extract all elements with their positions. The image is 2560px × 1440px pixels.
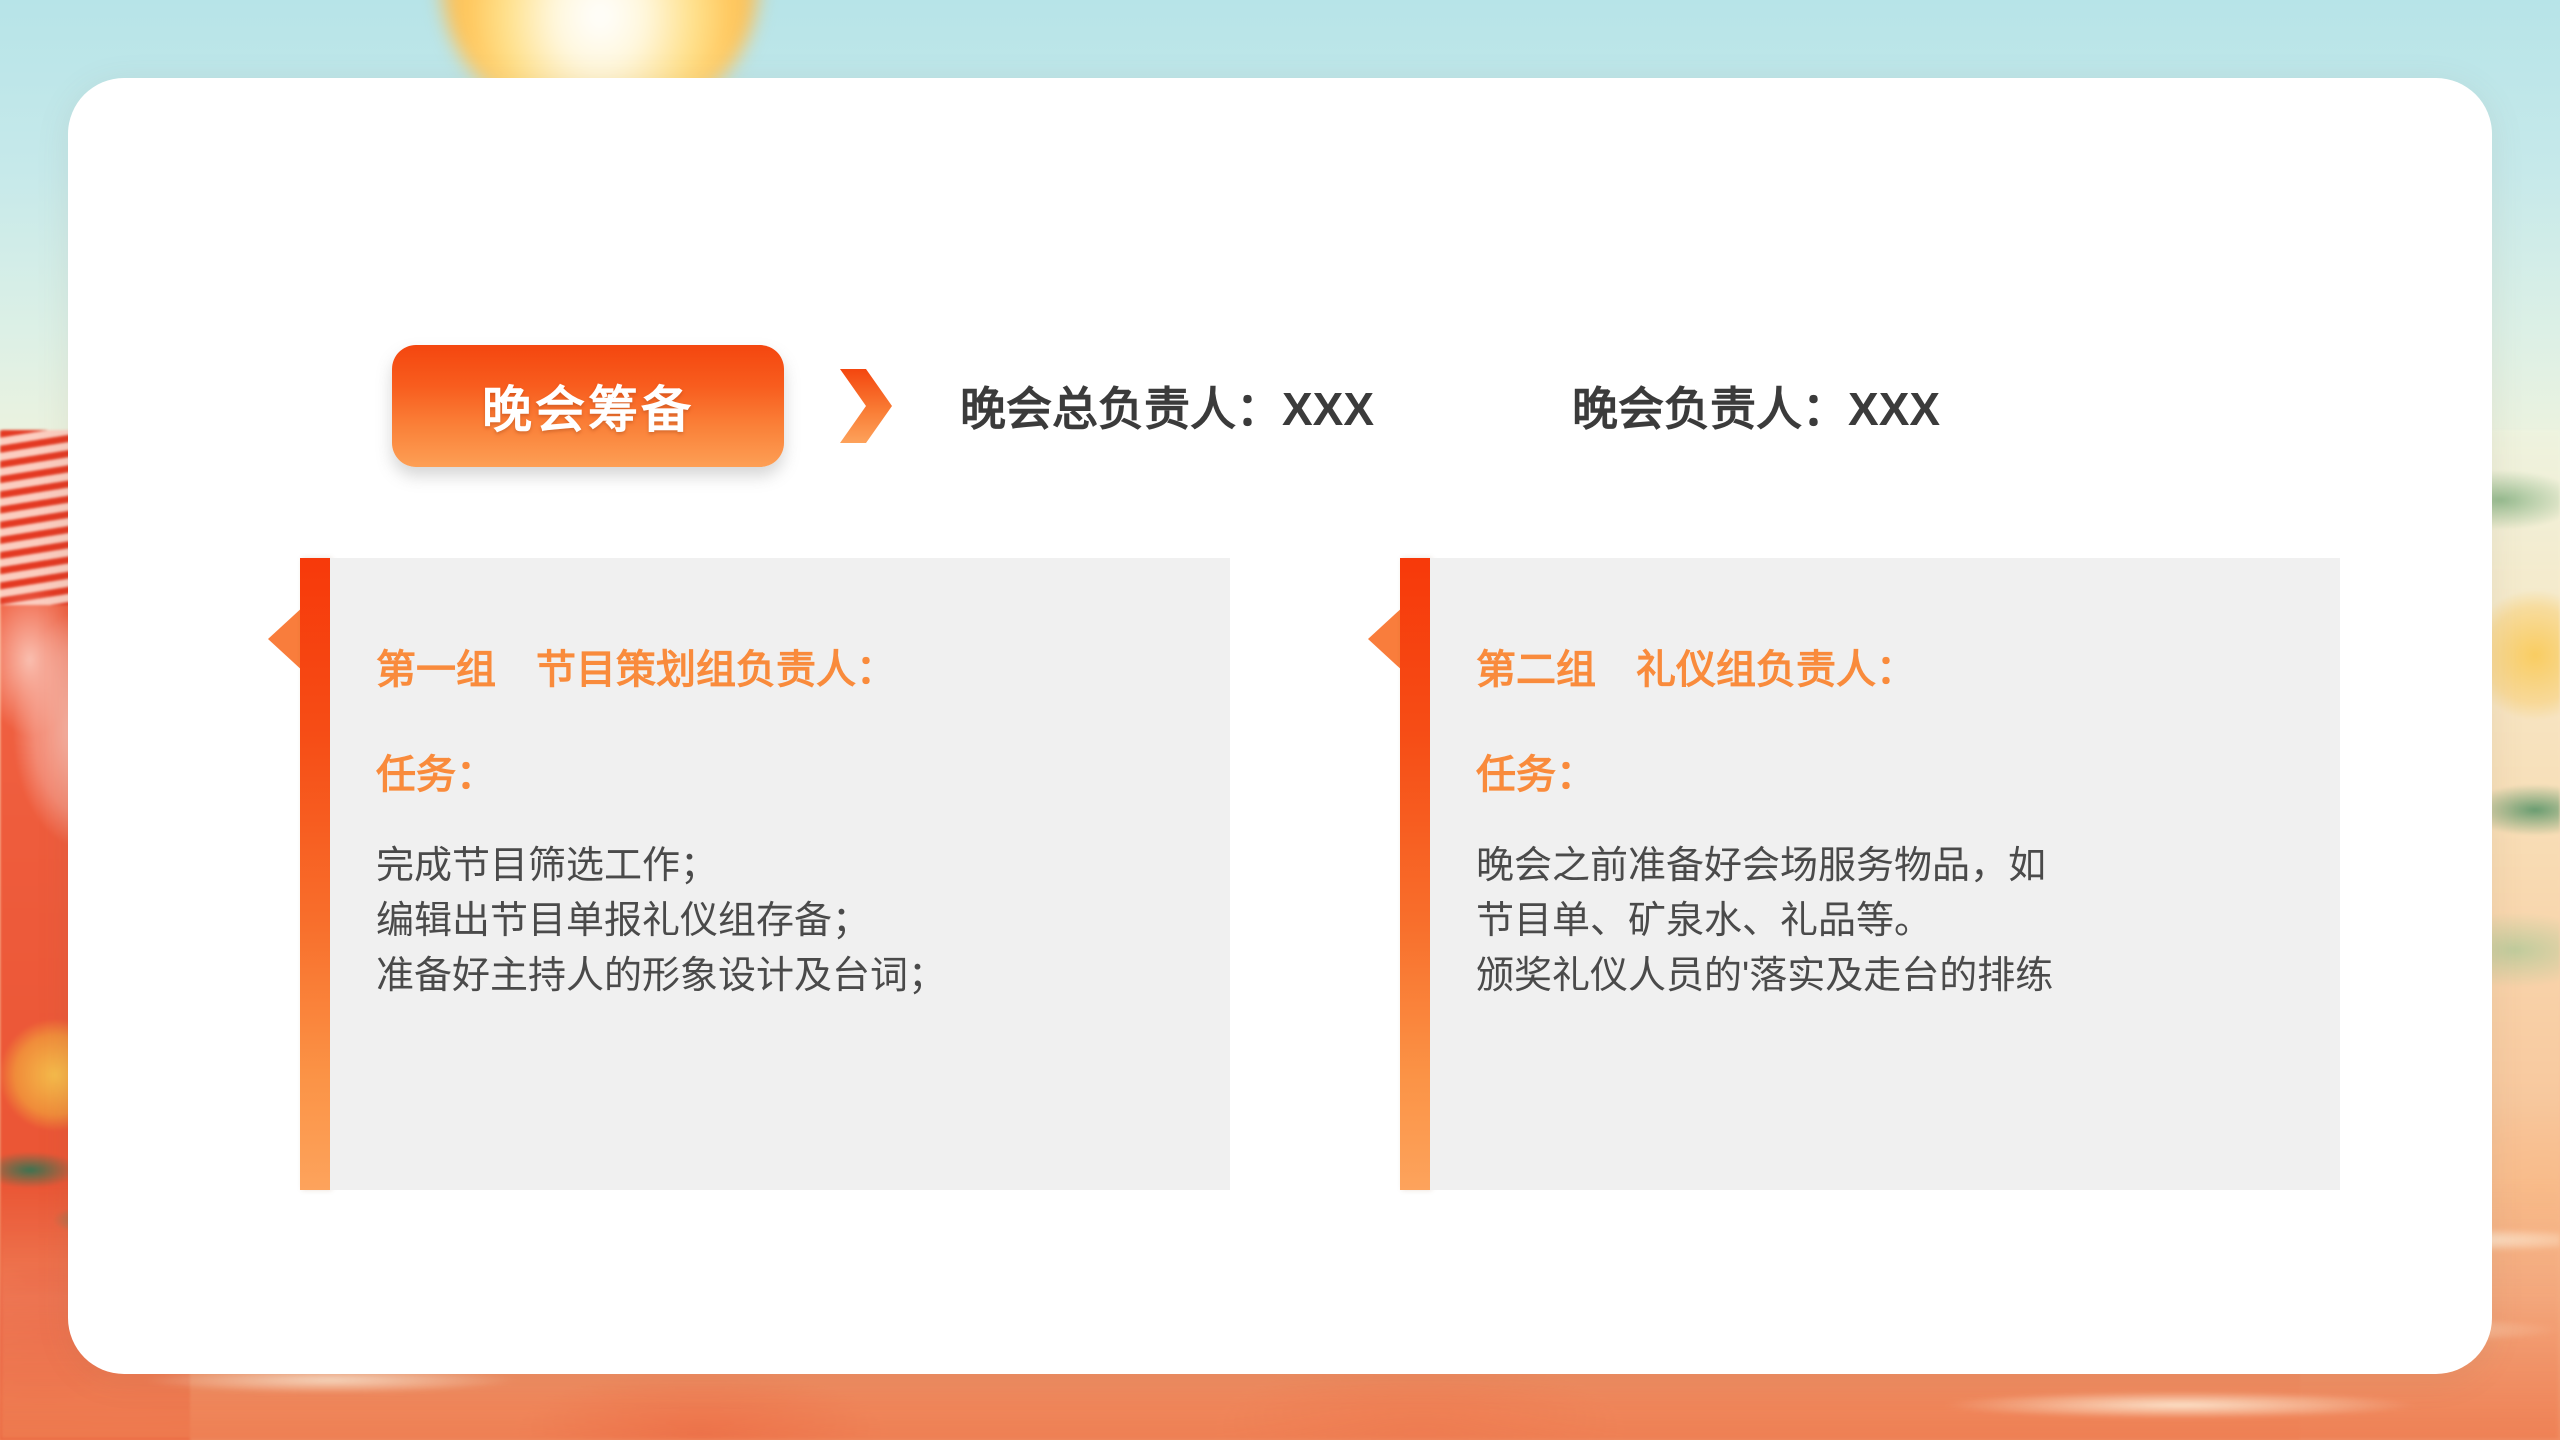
group-card-2-body: 第二组 礼仪组负责人： 任务： 晚会之前准备好会场服务物品，如 节目单、矿泉水、… bbox=[1430, 558, 2340, 1190]
group-1-title: 第一组 节目策划组负责人： bbox=[376, 650, 1190, 690]
group-1-task-label: 任务： bbox=[376, 755, 1190, 795]
section-badge-label: 晚会筹备 bbox=[482, 370, 694, 442]
ribbon-bar bbox=[300, 558, 330, 1190]
group-ribbon-1 bbox=[268, 558, 332, 1190]
group-ribbon-2 bbox=[1368, 558, 1432, 1190]
group-card-2[interactable]: 第二组 礼仪组负责人： 任务： 晚会之前准备好会场服务物品，如 节目单、矿泉水、… bbox=[1368, 558, 2340, 1190]
group-card-1[interactable]: 第一组 节目策划组负责人： 任务： 完成节目筛选工作； 编辑出节目单报礼仪组存备… bbox=[268, 558, 1230, 1190]
task-item: 颁奖礼仪人员的'落实及走台的排练 bbox=[1476, 949, 2300, 1004]
ribbon-triangle-icon bbox=[268, 582, 330, 696]
task-item: 晚会之前准备好会场服务物品，如 bbox=[1476, 839, 2300, 894]
event-lead-title: 晚会负责人：XXX bbox=[1572, 373, 1940, 439]
group-2-task-label: 任务： bbox=[1476, 755, 2300, 795]
chevron-right-icon bbox=[836, 367, 896, 445]
group-1-task-list: 完成节目筛选工作； 编辑出节目单报礼仪组存备； 准备好主持人的形象设计及台词； bbox=[376, 839, 1190, 1004]
overall-lead-title: 晚会总负责人：XXX bbox=[960, 373, 1374, 439]
group-card-1-body: 第一组 节目策划组负责人： 任务： 完成节目筛选工作； 编辑出节目单报礼仪组存备… bbox=[330, 558, 1230, 1190]
task-item: 编辑出节目单报礼仪组存备； bbox=[376, 894, 1190, 949]
group-2-task-list: 晚会之前准备好会场服务物品，如 节目单、矿泉水、礼品等。 颁奖礼仪人员的'落实及… bbox=[1476, 839, 2300, 1004]
section-badge[interactable]: 晚会筹备 bbox=[392, 345, 784, 467]
task-item: 完成节目筛选工作； bbox=[376, 839, 1190, 894]
task-item: 节目单、矿泉水、礼品等。 bbox=[1476, 894, 2300, 949]
section-header: 晚会筹备 晚会总负责人：XXX 晚会负责人：XXX bbox=[392, 342, 2092, 470]
group-2-title: 第二组 礼仪组负责人： bbox=[1476, 650, 2300, 690]
ribbon-triangle-icon bbox=[1368, 582, 1430, 696]
ribbon-bar bbox=[1400, 558, 1430, 1190]
task-item: 准备好主持人的形象设计及台词； bbox=[376, 949, 1190, 1004]
slide-canvas: 晚会筹备 晚会总负责人：XXX 晚会负责人：XXX 第 bbox=[0, 0, 2560, 1440]
